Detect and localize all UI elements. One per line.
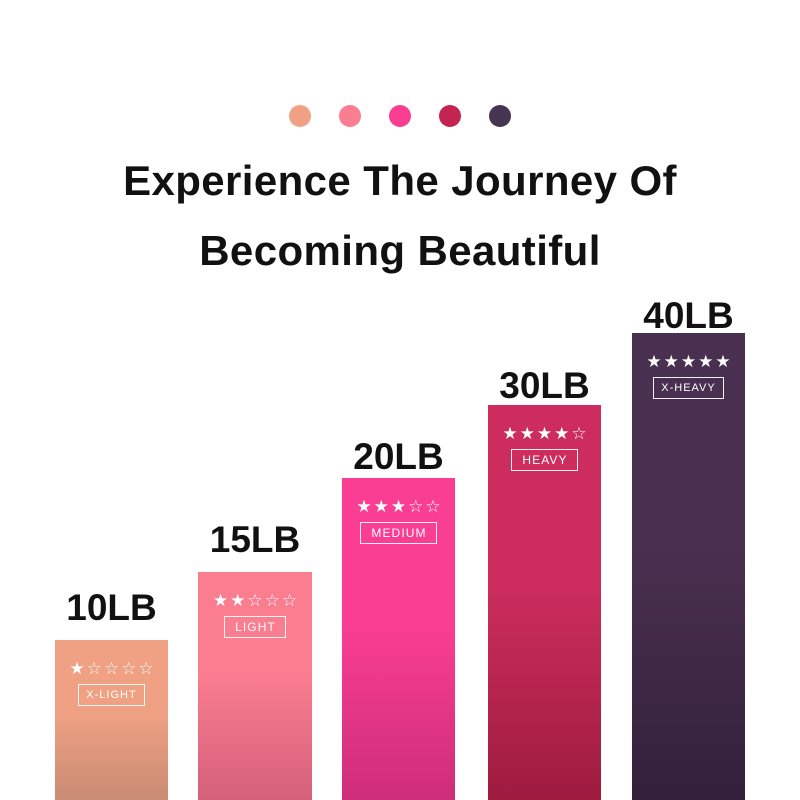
star-filled-icon: ★ <box>230 592 245 609</box>
strength-badge-30lb: HEAVY <box>511 449 577 471</box>
strength-badge-40lb: X-HEAVY <box>653 377 723 399</box>
strength-badge-10lb: X-LIGHT <box>78 684 144 706</box>
star-rating-10lb: ★☆☆☆☆ <box>69 660 153 677</box>
star-empty-icon: ☆ <box>121 660 136 677</box>
bar-15lb: ★★☆☆☆LIGHT <box>198 572 312 800</box>
bar-value-label-30lb: 30LB <box>499 366 589 406</box>
star-filled-icon: ★ <box>69 660 84 677</box>
star-filled-icon: ★ <box>664 353 679 370</box>
star-empty-icon: ☆ <box>425 498 440 515</box>
star-rating-20lb: ★★★☆☆ <box>356 498 440 515</box>
star-empty-icon: ☆ <box>138 660 153 677</box>
star-filled-icon: ★ <box>646 353 661 370</box>
star-filled-icon: ★ <box>356 498 371 515</box>
bar-value-label-40lb: 40LB <box>643 296 733 336</box>
star-filled-icon: ★ <box>715 353 730 370</box>
bar-group-40lb: 40LB★★★★★X-HEAVY <box>632 0 745 800</box>
bar-value-label-20lb: 20LB <box>353 437 443 477</box>
star-filled-icon: ★ <box>537 425 552 442</box>
resistance-band-bar-chart: 10LB★☆☆☆☆X-LIGHT15LB★★☆☆☆LIGHT20LB★★★☆☆M… <box>0 0 800 800</box>
star-filled-icon: ★ <box>374 498 389 515</box>
star-filled-icon: ★ <box>520 425 535 442</box>
bar-20lb: ★★★☆☆MEDIUM <box>342 478 455 800</box>
bar-10lb: ★☆☆☆☆X-LIGHT <box>55 640 168 800</box>
star-empty-icon: ☆ <box>265 592 280 609</box>
star-filled-icon: ★ <box>213 592 228 609</box>
star-rating-15lb: ★★☆☆☆ <box>213 592 297 609</box>
star-empty-icon: ☆ <box>282 592 297 609</box>
bar-40lb: ★★★★★X-HEAVY <box>632 333 745 800</box>
star-rating-30lb: ★★★★☆ <box>502 425 586 442</box>
star-filled-icon: ★ <box>698 353 713 370</box>
promo-graphic: Experience The Journey Of Becoming Beaut… <box>0 0 800 800</box>
bar-group-20lb: 20LB★★★☆☆MEDIUM <box>342 0 455 800</box>
star-filled-icon: ★ <box>681 353 696 370</box>
bar-value-label-15lb: 15LB <box>210 520 300 560</box>
star-empty-icon: ☆ <box>408 498 423 515</box>
star-filled-icon: ★ <box>502 425 517 442</box>
star-filled-icon: ★ <box>554 425 569 442</box>
star-rating-40lb: ★★★★★ <box>646 353 730 370</box>
bar-group-15lb: 15LB★★☆☆☆LIGHT <box>198 0 312 800</box>
bar-group-10lb: 10LB★☆☆☆☆X-LIGHT <box>55 0 168 800</box>
star-empty-icon: ☆ <box>104 660 119 677</box>
star-empty-icon: ☆ <box>87 660 102 677</box>
bar-group-30lb: 30LB★★★★☆HEAVY <box>488 0 601 800</box>
bar-30lb: ★★★★☆HEAVY <box>488 405 601 800</box>
strength-badge-20lb: MEDIUM <box>360 522 436 544</box>
star-empty-icon: ☆ <box>247 592 262 609</box>
bar-value-label-10lb: 10LB <box>66 588 156 628</box>
star-empty-icon: ☆ <box>571 425 586 442</box>
star-filled-icon: ★ <box>391 498 406 515</box>
strength-badge-15lb: LIGHT <box>224 616 286 638</box>
